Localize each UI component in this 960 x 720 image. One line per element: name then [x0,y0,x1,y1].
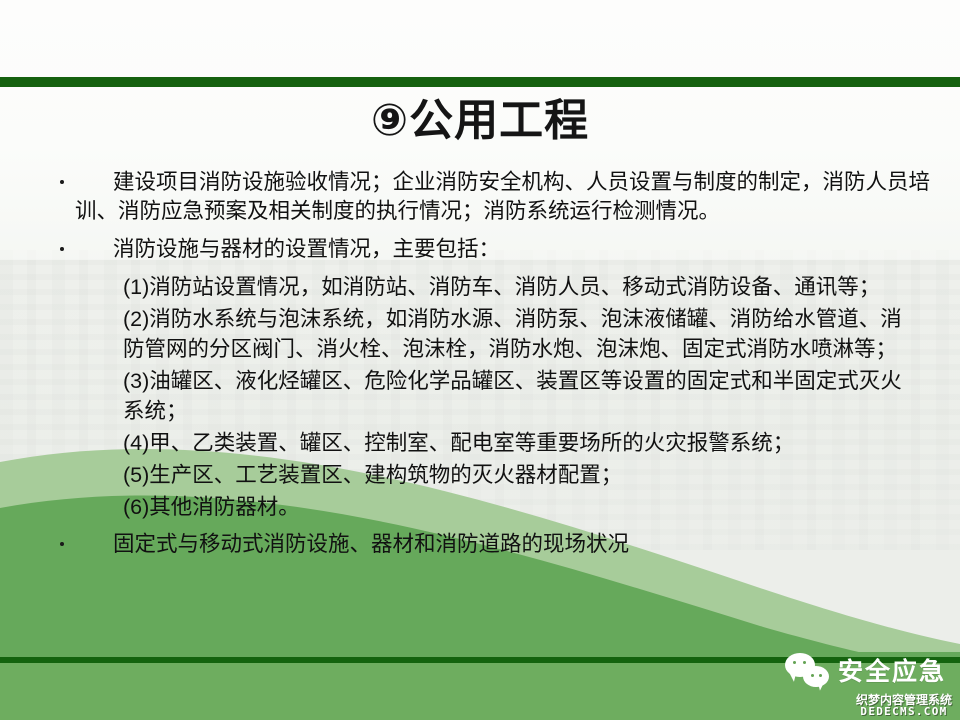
numbered-item-4: (4)甲、乙类装置、罐区、控制室、配电室等重要场所的火灾报警系统； [123,428,913,460]
list-item-label: 建设项目消防设施验收情况；企业消防安全机构、人员设置与制度的制定，消防人员培训、… [75,168,960,226]
numbered-item-1: (1)消防站设置情况，如消防站、消防车、消防人员、移动式消防设备、通讯等； [123,272,913,304]
list-item: 消防设施与器材的设置情况，主要包括： [0,235,960,264]
bullet-dot-icon [60,180,64,184]
watermark-domain-text: DEDECMS.COM [856,706,952,718]
numbered-item-5: (5)生产区、工艺装置区、建构筑物的灭火器材配置； [123,460,913,492]
slide-body: 建设项目消防设施验收情况；企业消防安全机构、人员设置与制度的制定，消防人员培训、… [0,168,960,561]
numbered-item-6: (6)其他消防器材。 [123,492,913,524]
dedecms-watermark: 织梦内容管理系统 DEDECMS.COM [856,694,952,718]
bullet-dot-icon [60,247,64,251]
list-item-label: 消防设施与器材的设置情况，主要包括： [75,235,960,264]
top-accent-rule [0,77,960,87]
numbered-item-label: (4)甲、乙类装置、罐区、控制室、配电室等重要场所的火灾报警系统； [123,428,913,458]
wechat-badge: 安全应急 [785,652,946,688]
numbered-item-label: (1)消防站设置情况，如消防站、消防车、消防人员、移动式消防设备、通讯等； [123,272,913,302]
page-title: ⑨公用工程 [0,96,960,145]
list-item-label: 固定式与移动式消防设施、器材和消防道路的现场状况 [75,530,960,559]
presentation-slide: ⑨公用工程 建设项目消防设施验收情况；企业消防安全机构、人员设置与制度的制定，消… [0,0,960,720]
list-item: 建设项目消防设施验收情况；企业消防安全机构、人员设置与制度的制定，消防人员培训、… [0,168,960,226]
numbered-item-label: (5)生产区、工艺装置区、建构筑物的灭火器材配置； [123,460,913,490]
numbered-item-label: (2)消防水系统与泡沫系统，如消防水源、消防泵、泡沫液储罐、消防给水管道、消防管… [123,304,913,364]
numbered-item-3: (3)油罐区、液化烃罐区、危险化学品罐区、装置区等设置的固定式和半固定式灭火系统… [123,366,913,428]
numbered-item-label: (6)其他消防器材。 [123,492,913,522]
wechat-icon [785,653,829,687]
list-item: 固定式与移动式消防设施、器材和消防道路的现场状况 [0,530,960,559]
numbered-item-label: (3)油罐区、液化烃罐区、危险化学品罐区、装置区等设置的固定式和半固定式灭火系统… [123,366,913,426]
wechat-account-name: 安全应急 [838,652,946,688]
numbered-item-2: (2)消防水系统与泡沫系统，如消防水源、消防泵、泡沫液储罐、消防给水管道、消防管… [123,304,913,366]
bullet-dot-icon [60,542,64,546]
